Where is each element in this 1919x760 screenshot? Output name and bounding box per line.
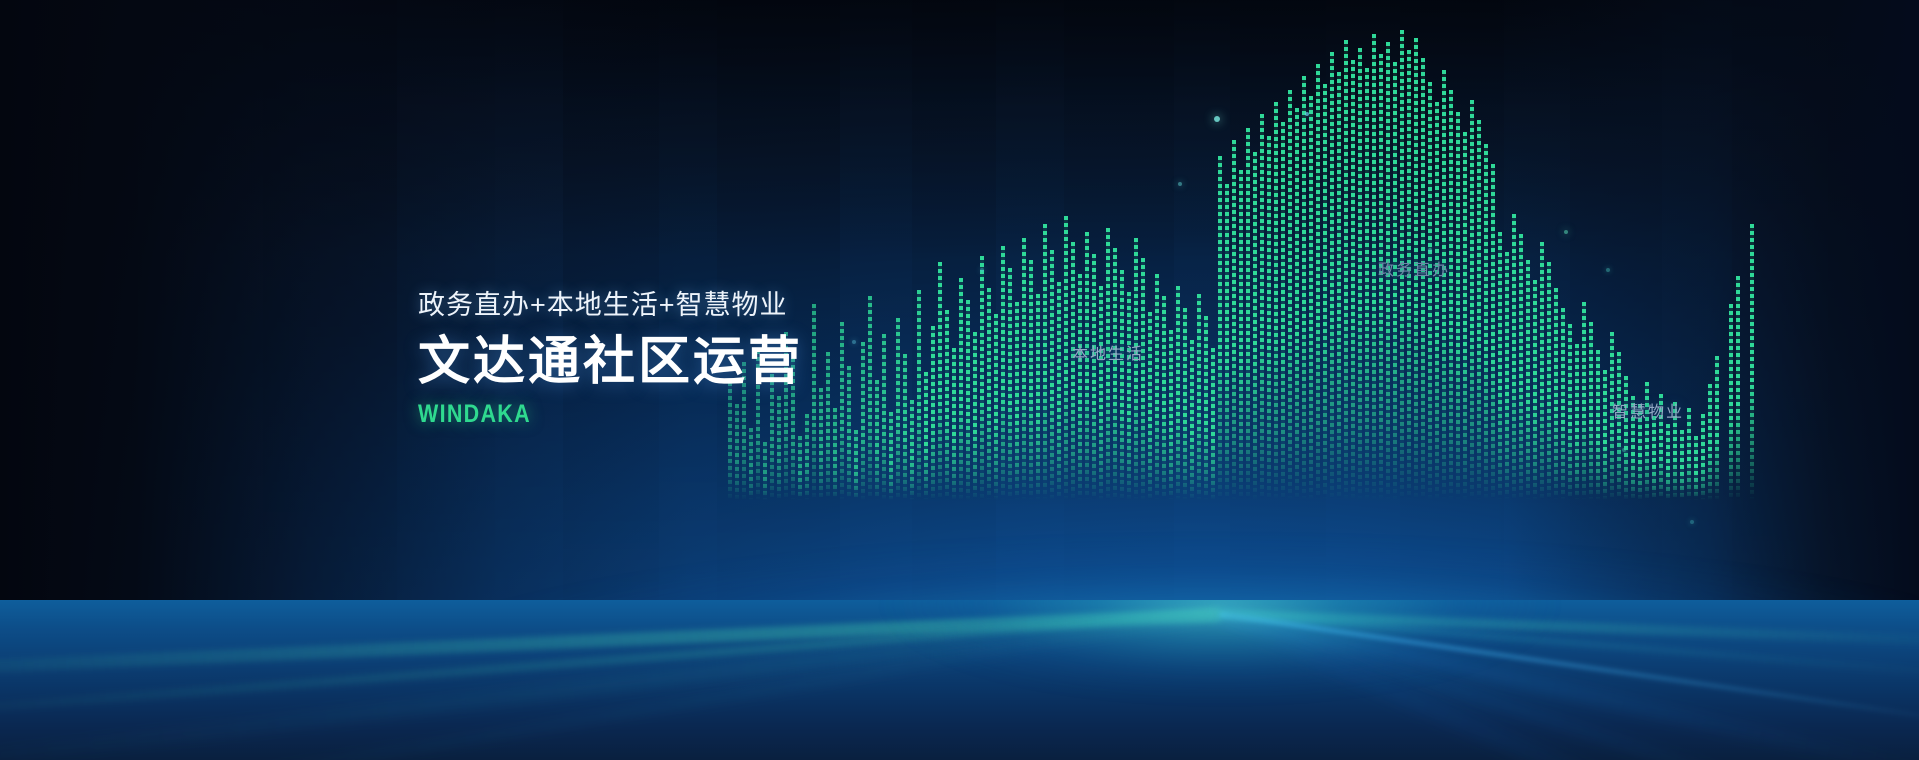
- hero-text-block: 政务直办+本地生活+智慧物业 文达通社区运营 WINDAKA: [418, 292, 803, 427]
- city-label-3: 智慧物业: [1612, 398, 1684, 422]
- city-dot-column: [1666, 424, 1670, 500]
- city-dot-column: [798, 436, 802, 500]
- city-dot-column: [1001, 246, 1005, 500]
- city-dot-column: [1477, 120, 1481, 500]
- city-dot-column: [896, 318, 900, 500]
- perspective-ground-plane: [0, 600, 1919, 760]
- city-dot-column: [1183, 308, 1187, 500]
- city-dot-column: [1533, 280, 1537, 500]
- city-dot-column: [917, 290, 921, 500]
- city-dot-column: [1176, 286, 1180, 500]
- city-dot-column: [938, 262, 942, 500]
- city-dot-column: [903, 354, 907, 500]
- city-dot-column: [812, 304, 816, 500]
- city-dot-column: [1281, 122, 1285, 500]
- city-dot-column: [1624, 376, 1628, 500]
- city-dot-column: [1134, 238, 1138, 500]
- city-dot-column: [1470, 100, 1474, 500]
- city-dot-column: [1547, 262, 1551, 500]
- city-dot-column: [924, 372, 928, 500]
- city-dot-column: [819, 388, 823, 500]
- city-dot-column: [826, 352, 830, 500]
- city-dot-column: [1351, 60, 1355, 500]
- city-dot-column: [1316, 64, 1320, 500]
- city-dot-column: [1596, 350, 1600, 500]
- city-dot-column: [1428, 82, 1432, 500]
- city-dot-column: [889, 412, 893, 500]
- city-dot-column: [1358, 48, 1362, 500]
- city-dot-column: [973, 332, 977, 500]
- city-dot-column: [1456, 112, 1460, 500]
- brand-wordmark: WINDAKA: [418, 402, 749, 427]
- city-dot-column: [1148, 312, 1152, 500]
- city-dot-column: [840, 322, 844, 500]
- city-dot-column: [1575, 344, 1579, 500]
- banner-hero: 政务直办+本地生活+智慧物业 文达通社区运营 WINDAKA 本地生活政务直办智…: [0, 0, 1919, 760]
- city-dot-column: [1498, 232, 1502, 500]
- city-dot-column: [1092, 254, 1096, 500]
- dot-matrix-cityscape: [0, 0, 1919, 640]
- city-dot-column: [1078, 274, 1082, 500]
- city-dot-column: [1442, 70, 1446, 500]
- city-dot-column: [1365, 68, 1369, 500]
- city-dot-column: [1239, 170, 1243, 500]
- city-dot-column: [1022, 238, 1026, 500]
- city-dot-column: [966, 300, 970, 500]
- city-dot-column: [1715, 356, 1719, 500]
- city-dot-column: [1120, 270, 1124, 500]
- city-dot-column: [1736, 276, 1740, 500]
- city-dot-column: [1687, 408, 1691, 500]
- city-dot-column: [1036, 294, 1040, 500]
- city-dot-column: [994, 314, 998, 500]
- city-dot-column: [1729, 304, 1733, 500]
- city-dot-column: [1127, 292, 1131, 500]
- city-dot-column: [847, 366, 851, 500]
- city-dot-column: [763, 442, 767, 500]
- city-dot-column: [987, 288, 991, 500]
- city-dot-column: [1680, 430, 1684, 500]
- city-dot-column: [1309, 96, 1313, 500]
- city-dot-column: [1512, 214, 1516, 500]
- hero-headline: 文达通社区运营: [418, 336, 803, 388]
- city-dot-column: [1603, 370, 1607, 500]
- city-dot-column: [854, 430, 858, 500]
- city-dot-column: [749, 428, 753, 500]
- city-dot-column: [1484, 144, 1488, 500]
- city-dot-column: [1568, 324, 1572, 500]
- city-dot-column: [945, 310, 949, 500]
- vanishing-point-glow: [800, 600, 1640, 744]
- city-dot-column: [1008, 268, 1012, 500]
- city-dot-column: [868, 296, 872, 500]
- city-dot-column: [1113, 248, 1117, 500]
- city-dot-column: [1750, 224, 1754, 500]
- city-dot-column: [1295, 108, 1299, 500]
- city-dot-column: [1330, 52, 1334, 500]
- city-dot-column: [882, 334, 886, 500]
- city-dot-column: [1323, 84, 1327, 500]
- city-dot-column: [952, 348, 956, 500]
- city-dot-column: [1344, 40, 1348, 500]
- city-dot-column: [1204, 316, 1208, 500]
- city-dot-column: [1043, 224, 1047, 500]
- city-dot-column: [1064, 216, 1068, 500]
- city-dot-column: [1652, 416, 1656, 500]
- city-dot-column: [1372, 34, 1376, 500]
- city-dot-column: [959, 278, 963, 500]
- city-dot-column: [1554, 288, 1558, 500]
- city-label-2: 政务直办: [1378, 256, 1450, 280]
- city-dot-column: [1106, 228, 1110, 500]
- city-dot-column: [1029, 260, 1033, 500]
- city-dot-column: [805, 414, 809, 500]
- city-dot-column: [1491, 164, 1495, 500]
- city-label-1: 本地生活: [1072, 340, 1144, 364]
- hero-subtitle: 政务直办+本地生活+智慧物业: [418, 292, 803, 319]
- city-dot-column: [980, 256, 984, 500]
- city-dot-column: [1589, 322, 1593, 500]
- city-dot-column: [1260, 114, 1264, 500]
- city-dot-column: [1155, 274, 1159, 500]
- city-dot-column: [1225, 184, 1229, 500]
- city-dot-column: [1057, 282, 1061, 500]
- city-dot-column: [861, 342, 865, 500]
- city-dot-column: [1197, 294, 1201, 500]
- city-dot-column: [1337, 72, 1341, 500]
- city-dot-column: [1190, 340, 1194, 500]
- city-dot-column: [1085, 232, 1089, 500]
- city-dot-column: [1694, 436, 1698, 500]
- city-dot-column: [1253, 152, 1257, 500]
- city-dot-column: [1582, 302, 1586, 500]
- city-dot-column: [1246, 128, 1250, 500]
- city-dot-column: [1218, 156, 1222, 500]
- city-dot-column: [1288, 90, 1292, 500]
- city-dot-column: [1232, 140, 1236, 500]
- city-dot-column: [1393, 62, 1397, 500]
- city-dot-column: [1519, 234, 1523, 500]
- city-dot-column: [1162, 296, 1166, 500]
- city-dot-column: [1617, 352, 1621, 500]
- city-dot-column: [1505, 252, 1509, 500]
- city-dot-column: [1071, 242, 1075, 500]
- city-dot-column: [1099, 286, 1103, 500]
- city-dot-column: [1267, 136, 1271, 500]
- city-dot-column: [931, 326, 935, 500]
- city-dot-column: [1701, 414, 1705, 500]
- city-dot-column: [1561, 308, 1565, 500]
- city-dot-column: [1050, 250, 1054, 500]
- city-dot-column: [1708, 384, 1712, 500]
- city-dot-column: [1463, 132, 1467, 500]
- city-dot-column: [1169, 330, 1173, 500]
- city-dot-column: [1211, 348, 1215, 500]
- city-dot-column: [1540, 242, 1544, 500]
- city-dot-column: [1435, 102, 1439, 500]
- city-dot-column: [1526, 260, 1530, 500]
- city-dot-column: [1302, 76, 1306, 500]
- city-dot-column: [833, 408, 837, 500]
- city-dot-column: [1449, 90, 1453, 500]
- city-dot-column: [1274, 102, 1278, 500]
- city-dot-column: [1141, 258, 1145, 500]
- city-dot-column: [910, 400, 914, 500]
- city-dot-column: [1015, 302, 1019, 500]
- city-dot-column: [875, 380, 879, 500]
